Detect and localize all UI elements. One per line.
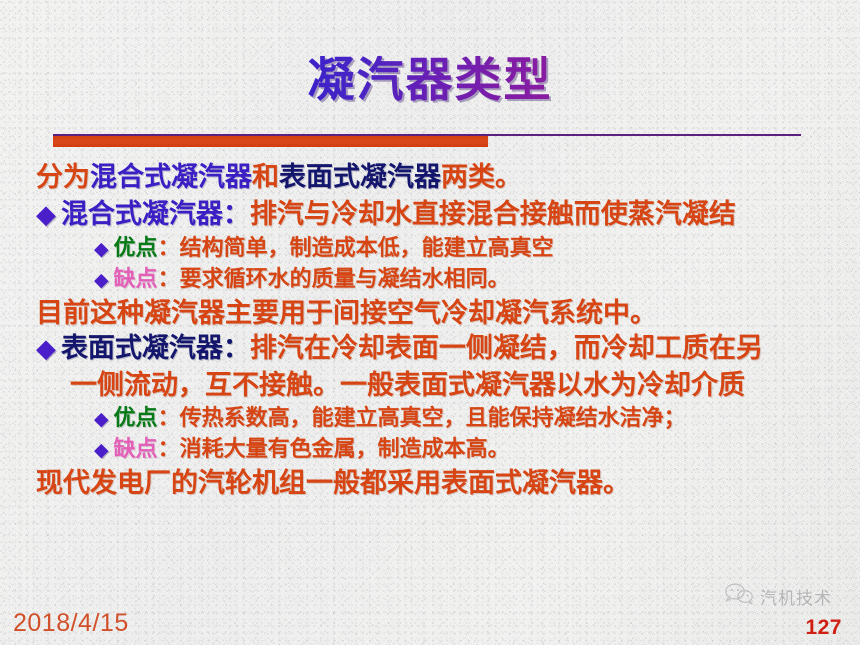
surface-condenser-description-line2: 一侧流动，互不接触。一般表面式凝汽器以水为冷却介质 (70, 370, 745, 401)
watermark-label: 汽机技术 (760, 584, 832, 609)
surface-pros-label: 优点 (114, 406, 158, 431)
diamond-bullet-icon: ◆ (94, 408, 109, 430)
slide-body: 分为混合式凝汽器和表面式凝汽器两类。 ◆混合式凝汽器：排汽与冷却水直接混合接触而… (0, 164, 860, 507)
mixing-condenser-term: 混合式凝汽器： (61, 199, 250, 230)
mixing-pros-label: 优点 (114, 236, 158, 261)
diamond-bullet-icon: ◆ (36, 334, 56, 364)
diamond-bullet-icon: ◆ (94, 238, 109, 260)
mixing-cons-text: ：要求循环水的质量与凝结水相同。 (158, 267, 510, 292)
intro-seg-surface-type: 表面式凝汽器 (279, 162, 441, 193)
mixing-pros-line: ◆优点：结构简单，制造成本低，能建立高真空 (0, 238, 860, 260)
mixing-note-text: 目前这种凝汽器主要用于间接空气冷却凝汽系统中。 (36, 298, 657, 329)
mixing-condenser-heading: ◆混合式凝汽器：排汽与冷却水直接混合接触而使蒸汽凝结 (0, 201, 860, 229)
intro-seg-3: 和 (252, 162, 279, 193)
diamond-bullet-icon: ◆ (94, 439, 109, 461)
slide-canvas: 凝汽器类型 分为混合式凝汽器和表面式凝汽器两类。 ◆混合式凝汽器：排汽与冷却水直… (0, 0, 860, 645)
mixing-note-line: 目前这种凝汽器主要用于间接空气冷却凝汽系统中。 (0, 300, 860, 327)
intro-seg-5: 两类。 (441, 162, 522, 193)
mixing-pros-text: ：结构简单，制造成本低，能建立高真空 (158, 236, 554, 261)
footer-date: 2018/4/15 (13, 609, 129, 638)
surface-condenser-description-line2-wrap: 一侧流动，互不接触。一般表面式凝汽器以水为冷却介质 (0, 372, 860, 399)
page-number: 127 (805, 616, 842, 640)
diamond-bullet-icon: ◆ (94, 269, 109, 291)
surface-cons-text: ：消耗大量有色金属，制造成本高。 (158, 437, 510, 462)
page-title: 凝汽器类型 (308, 56, 553, 106)
diamond-bullet-icon: ◆ (36, 200, 56, 230)
mixing-cons-line: ◆缺点：要求循环水的质量与凝结水相同。 (0, 269, 860, 291)
surface-condenser-term: 表面式凝汽器： (61, 333, 250, 364)
intro-seg-1: 分为 (36, 162, 90, 193)
divider-accent-bar (53, 136, 488, 147)
surface-pros-line: ◆优点：传热系数高，能建立高真空，且能保持凝结水洁净； (0, 408, 860, 430)
surface-condenser-heading: ◆表面式凝汽器：排汽在冷却表面一侧凝结，而冷却工质在另 (0, 335, 860, 363)
mixing-condenser-description: 排汽与冷却水直接混合接触而使蒸汽凝结 (250, 199, 736, 230)
intro-seg-mixing-type: 混合式凝汽器 (90, 162, 252, 193)
conclusion-text: 现代发电厂的汽轮机组一般都采用表面式凝汽器。 (36, 468, 630, 499)
watermark: 汽机技术 (724, 583, 832, 609)
surface-cons-line: ◆缺点：消耗大量有色金属，制造成本高。 (0, 439, 860, 461)
title-divider (53, 134, 801, 148)
wechat-icon (724, 583, 754, 609)
surface-cons-label: 缺点 (114, 437, 158, 462)
title-block: 凝汽器类型 (0, 56, 860, 106)
surface-condenser-description-line1: 排汽在冷却表面一侧凝结，而冷却工质在另 (250, 333, 763, 364)
conclusion-line: 现代发电厂的汽轮机组一般都采用表面式凝汽器。 (0, 470, 860, 497)
mixing-cons-label: 缺点 (114, 267, 158, 292)
intro-line: 分为混合式凝汽器和表面式凝汽器两类。 (0, 164, 860, 191)
surface-pros-text: ：传热系数高，能建立高真空，且能保持凝结水洁净； (158, 406, 686, 431)
